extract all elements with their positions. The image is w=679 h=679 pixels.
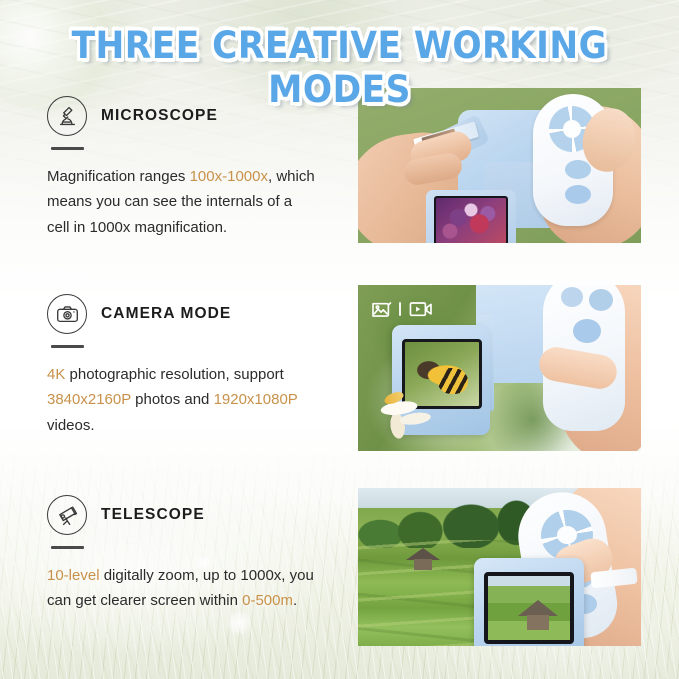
section-microscope-body: Magnification ranges 100x-1000x, which m… bbox=[47, 164, 315, 241]
mode-divider bbox=[399, 302, 401, 316]
section-telescope-header: TELESCOPE bbox=[47, 495, 347, 535]
photo-camera-scene bbox=[358, 285, 641, 451]
device-button-2 bbox=[565, 185, 591, 204]
device-button-1 bbox=[565, 160, 591, 179]
photo-video-mode-overlay bbox=[370, 299, 434, 319]
page-title-container: THREE CREATIVE WORKING MODES bbox=[0, 24, 679, 112]
highlight-video-resolution: 1920x1080P bbox=[214, 391, 298, 408]
highlight-magnification-range: 100x-1000x bbox=[190, 168, 268, 185]
highlight-distance-range: 0-500m bbox=[242, 592, 293, 609]
text-run: photos and bbox=[131, 391, 214, 408]
section-camera-mode: CAMERA MODE 4K photographic resolution, … bbox=[47, 294, 347, 438]
video-icon bbox=[408, 299, 434, 319]
device-dpad-center bbox=[563, 120, 581, 138]
telescope-icon bbox=[47, 495, 87, 535]
text-run: photographic resolution, support bbox=[65, 366, 283, 383]
photo-telescope bbox=[358, 488, 641, 646]
text-run: videos. bbox=[47, 417, 95, 434]
highlight-4k: 4K bbox=[47, 366, 65, 383]
section-telescope-rule bbox=[51, 546, 84, 549]
highlight-zoom-level: 10-level bbox=[47, 567, 100, 584]
highlight-photo-resolution: 3840x2160P bbox=[47, 391, 131, 408]
zoomed-hut bbox=[518, 600, 558, 630]
page-title: THREE CREATIVE WORKING MODES bbox=[24, 24, 655, 112]
photo-camera bbox=[358, 285, 641, 451]
section-microscope: MICROSCOPE Magnification ranges 100x-100… bbox=[47, 96, 347, 240]
camera-icon bbox=[47, 294, 87, 334]
section-microscope-rule bbox=[51, 147, 84, 150]
photo-icon bbox=[370, 299, 392, 319]
photo-telescope-scene bbox=[358, 488, 641, 646]
white-flower bbox=[376, 379, 449, 446]
device-screen-zoom-view bbox=[484, 572, 574, 644]
section-telescope: TELESCOPE 10-level digitally zoom, up to… bbox=[47, 495, 347, 614]
section-telescope-label: TELESCOPE bbox=[101, 506, 205, 524]
distant-hut bbox=[406, 548, 440, 570]
device-screen-cell-view bbox=[434, 196, 508, 243]
device-button-1 bbox=[589, 289, 613, 311]
text-run: . bbox=[293, 592, 297, 609]
hut-wall bbox=[414, 559, 432, 570]
section-camera-label: CAMERA MODE bbox=[101, 305, 231, 323]
section-camera-rule bbox=[51, 345, 84, 348]
device-dpad-center bbox=[557, 526, 577, 544]
section-camera-body: 4K photographic resolution, support 3840… bbox=[47, 362, 315, 439]
device-button-3 bbox=[573, 319, 601, 343]
zoomed-hut-roof bbox=[518, 600, 558, 616]
section-camera-header: CAMERA MODE bbox=[47, 294, 347, 334]
zoomed-hut-wall bbox=[527, 615, 549, 630]
dandelion-seed-1 bbox=[226, 610, 252, 636]
device-button-2 bbox=[561, 287, 583, 307]
text-run: Magnification ranges bbox=[47, 168, 190, 185]
section-telescope-body: 10-level digitally zoom, up to 1000x, yo… bbox=[47, 563, 315, 614]
